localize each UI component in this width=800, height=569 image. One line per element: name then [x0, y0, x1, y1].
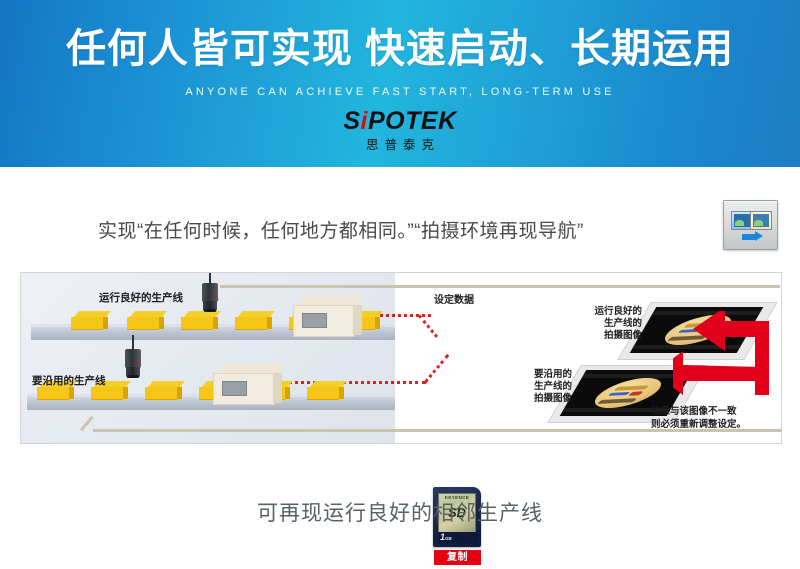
parcel-box — [235, 311, 272, 329]
target-image-icon — [750, 211, 772, 230]
copy-badge: 复制 — [434, 550, 481, 565]
banner-title: 任何人皆可实现 快速启动、长期运用 — [0, 24, 800, 74]
parcel-box — [307, 381, 344, 399]
header-banner: 任何人皆可实现 快速启动、长期运用 ANYONE CAN ACHIEVE FAS… — [0, 0, 800, 167]
label-captured-image-good: 运行良好的 生产线的 拍摄图像 — [552, 306, 642, 342]
parcel-box — [71, 311, 108, 329]
dotted-connector-bottom — [276, 381, 426, 384]
mismatch-note-line-2: 则必须重新调整设定。 — [651, 419, 746, 430]
brand-logo: SiPOTEK 思普泰克 — [0, 108, 800, 154]
mismatch-note: 如果与该图像不一致 则必须重新调整设定。 — [651, 405, 746, 431]
image-transfer-icon[interactable] — [723, 200, 778, 250]
parcel-box — [145, 381, 182, 399]
route-top-horizontal — [220, 285, 780, 288]
label-reuse-line-1: 要沿用的 — [534, 369, 572, 380]
label-good-line-1: 运行良好的 — [594, 306, 642, 317]
content-area: 实现“在任何时候，任何地方都相同。”“拍摄环境再现导航” — [0, 167, 800, 569]
parcel-box — [127, 311, 164, 329]
page-headline: 实现“在任何时候，任何地方都相同。”“拍摄环境再现导航” — [98, 216, 584, 243]
banner-subtitle: ANYONE CAN ACHIEVE FAST START, LONG-TERM… — [0, 86, 800, 98]
label-good-line-2: 生产线的 — [604, 318, 642, 329]
label-reuse-production-line: 要沿用的生产线 — [32, 373, 106, 388]
logo-letter-i: i — [361, 107, 368, 135]
bottom-caption: 可再现运行良好的相邻生产线 — [0, 497, 800, 527]
logo-chinese-name: 思普泰克 — [0, 136, 800, 154]
logo-wordmark: SiPOTEK — [343, 108, 456, 135]
parcel-box — [181, 311, 218, 329]
label-reuse-line-3: 拍摄图像 — [534, 393, 572, 404]
logo-letter-s: S — [343, 107, 360, 135]
logo-letters-potek: POTEK — [368, 107, 457, 135]
process-diagram: 运行良好的生产线 要沿用的生产线 设定数据 运行良好的 生产线的 拍摄图像 — [20, 272, 782, 444]
comparison-arrow-icon — [673, 311, 779, 401]
mismatch-note-line-1: 如果与该图像不一致 — [651, 406, 737, 417]
label-setting-data: 设定数据 — [434, 291, 474, 306]
label-good-production-line: 运行良好的生产线 — [99, 290, 183, 305]
label-captured-image-reuse: 要沿用的 生产线的 拍摄图像 — [482, 369, 572, 405]
sd-card-capacity: 1GB — [438, 532, 478, 543]
label-good-line-3: 拍摄图像 — [604, 330, 642, 341]
label-reuse-line-2: 生产线的 — [534, 381, 572, 392]
sd-capacity-unit: GB — [445, 536, 452, 541]
